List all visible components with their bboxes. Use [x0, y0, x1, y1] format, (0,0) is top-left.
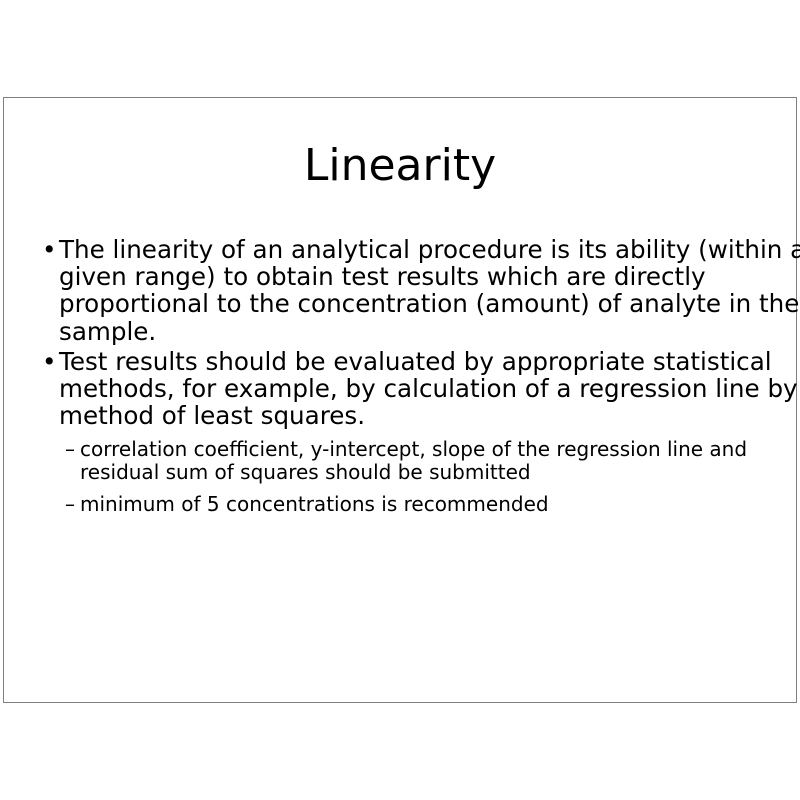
- bullet-line: methods, for example, by calculation of …: [59, 375, 796, 402]
- bullet-item: • Test results should be evaluated by ap…: [4, 348, 796, 430]
- bullet-dot-icon: •: [42, 236, 57, 263]
- slide-frame: Linearity • The linearity of an analytic…: [3, 97, 797, 703]
- bullet-line: sample.: [59, 318, 796, 345]
- sub-bullet-line: residual sum of squares should be submit…: [80, 461, 796, 484]
- sub-bullet-text: minimum of 5 concentrations is recommend…: [80, 493, 796, 516]
- bullet-dash-icon: –: [65, 438, 75, 461]
- slide-body: • The linearity of an analytical procedu…: [4, 236, 796, 516]
- sub-bullet-item: – correlation coefficient, y-intercept, …: [4, 438, 796, 484]
- bullet-dot-icon: •: [42, 348, 57, 375]
- bullet-line: The linearity of an analytical procedure…: [59, 236, 796, 263]
- bullet-text: The linearity of an analytical procedure…: [59, 236, 796, 345]
- sub-bullet-line: minimum of 5 concentrations is recommend…: [80, 493, 796, 516]
- bullet-item: • The linearity of an analytical procedu…: [4, 236, 796, 345]
- bullet-dash-icon: –: [65, 493, 75, 516]
- sub-bullet-text: correlation coefficient, y-intercept, sl…: [80, 438, 796, 484]
- bullet-line: Test results should be evaluated by appr…: [59, 348, 796, 375]
- slide-canvas: Linearity • The linearity of an analytic…: [0, 0, 800, 800]
- bullet-line: method of least squares.: [59, 402, 796, 429]
- page-title: Linearity: [4, 140, 796, 192]
- sub-bullet-item: – minimum of 5 concentrations is recomme…: [4, 493, 796, 516]
- bullet-line: given range) to obtain test results whic…: [59, 263, 796, 290]
- sub-bullet-line: correlation coefficient, y-intercept, sl…: [80, 438, 796, 461]
- bullet-text: Test results should be evaluated by appr…: [59, 348, 796, 430]
- bullet-line: proportional to the concentration (amoun…: [59, 290, 796, 317]
